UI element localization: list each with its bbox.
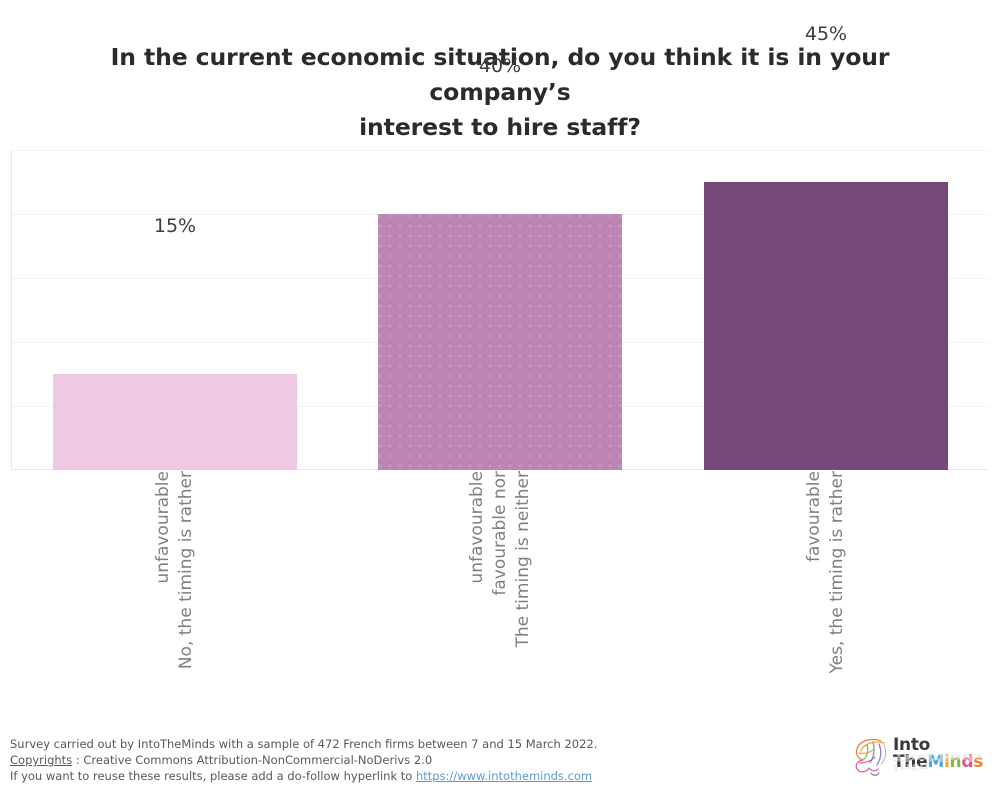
page-title-line-2: interest to hire staff? — [60, 110, 940, 145]
intotheminds-logo[interactable]: Into TheMinds Into TheMinds — [851, 735, 991, 785]
bar-value-label: 45% — [704, 23, 948, 45]
brain-icon — [851, 735, 899, 779]
chart-plot-area: 15% 40% 45% — [11, 150, 989, 470]
x-axis-label-line: favourable nor — [489, 471, 512, 596]
logo-reflection-line-1: Into — [893, 762, 983, 771]
footer-website-link[interactable]: https://www.intotheminds.com — [416, 769, 592, 783]
x-axis-label-group-2: The timing is neither favourable nor unf… — [378, 471, 622, 711]
bar-yes-favourable[interactable] — [704, 182, 948, 470]
x-axis-label-line: No, the timing is rather — [175, 471, 198, 669]
x-axis-label-group-3: Yes, the timing is rather favourable — [704, 471, 948, 711]
x-axis-label-line: favourable — [803, 471, 826, 562]
x-axis-label-group-1: No, the timing is rather unfavourable — [53, 471, 297, 711]
bar-value-label: 40% — [378, 55, 622, 77]
footer-license-text: : Creative Commons Attribution-NonCommer… — [72, 753, 432, 767]
x-axis-label-line: Yes, the timing is rather — [826, 471, 849, 673]
footer-copyright-line: Copyrights : Creative Commons Attributio… — [10, 752, 710, 768]
x-axis-label-line: unfavourable — [152, 471, 175, 584]
footer-reuse-text: If you want to reuse these results, plea… — [10, 769, 416, 783]
bars-layer: 15% 40% 45% — [11, 150, 989, 470]
footer-credits: Survey carried out by IntoTheMinds with … — [10, 736, 710, 784]
bar-no-unfavourable[interactable] — [53, 374, 297, 470]
x-axis-label-line: unfavourable — [466, 471, 489, 584]
footer-survey-line: Survey carried out by IntoTheMinds with … — [10, 736, 710, 752]
footer-reuse-line: If you want to reuse these results, plea… — [10, 768, 710, 784]
bar-value-label: 15% — [53, 215, 297, 237]
logo-reflection-line-2: TheMinds — [893, 752, 983, 761]
bar-neither[interactable] — [378, 214, 622, 470]
x-axis-label-line: The timing is neither — [512, 471, 535, 648]
logo-reflection: Into TheMinds — [893, 752, 983, 771]
x-axis-category-labels: No, the timing is rather unfavourable Th… — [11, 471, 989, 721]
footer-copyrights-label: Copyrights — [10, 753, 72, 767]
